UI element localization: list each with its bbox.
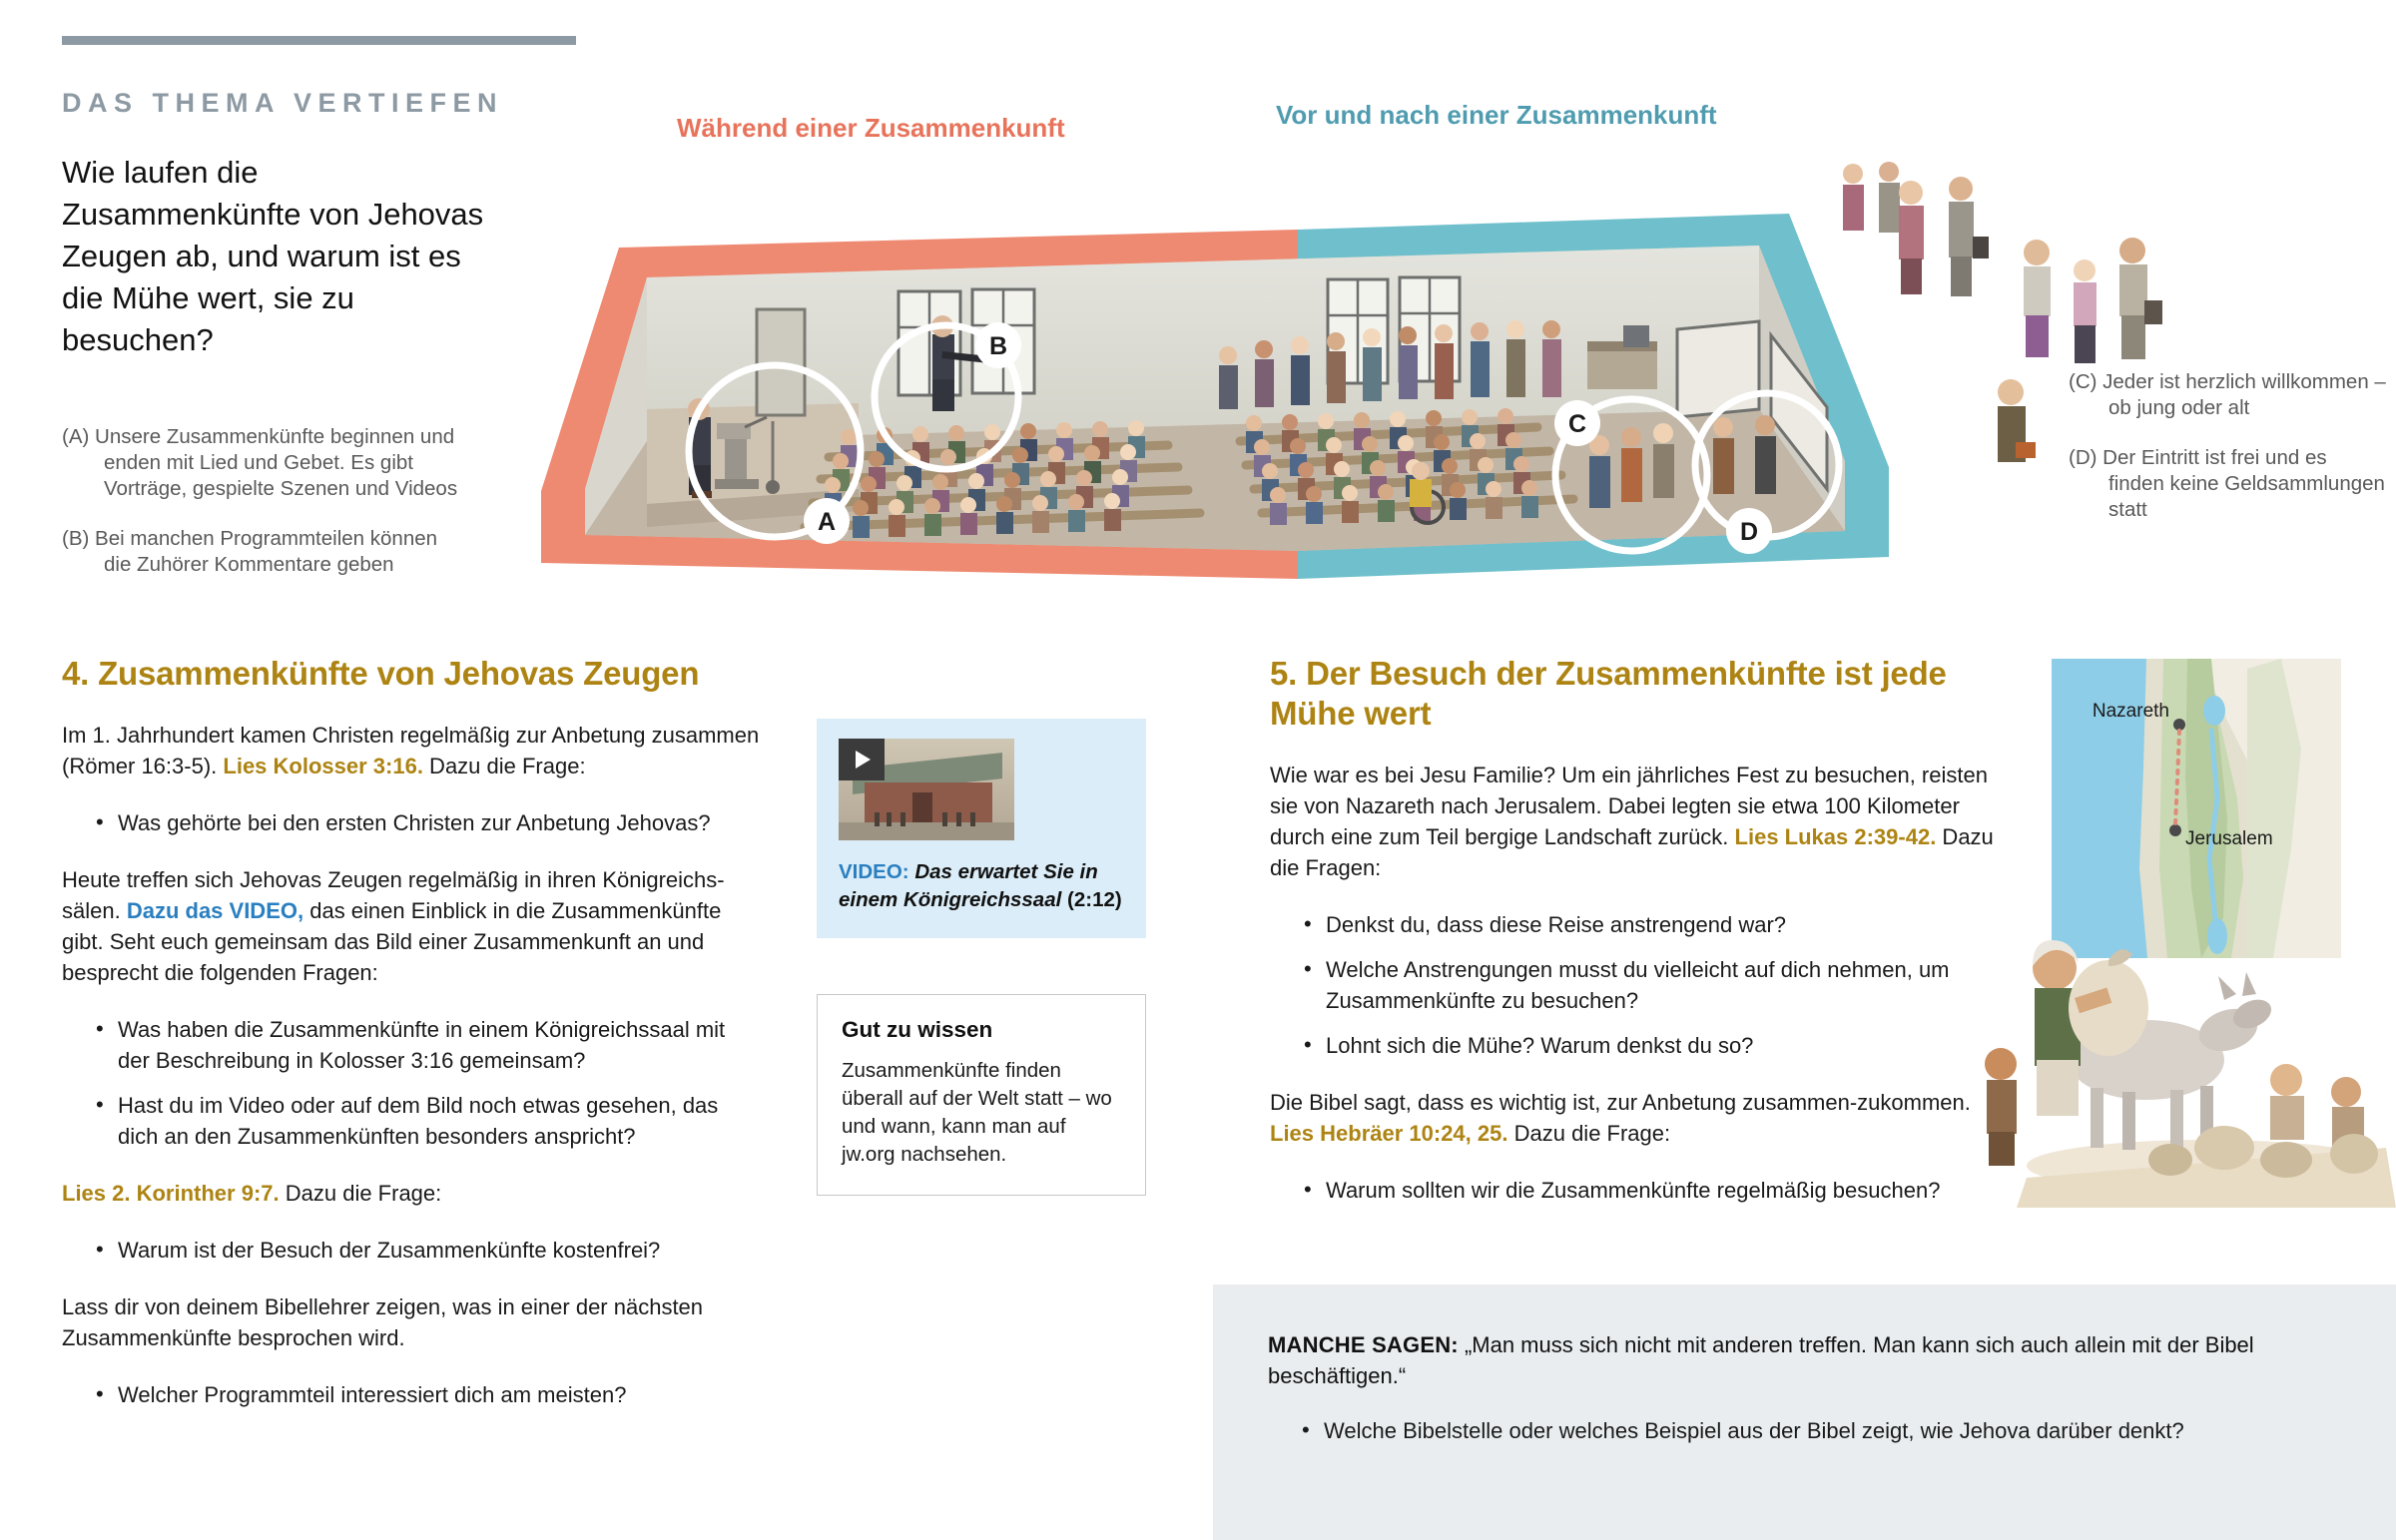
section-4-questions-2: Was haben die Zusammenkünfte in einem Kö… [62,1014,761,1152]
map-label-jerusalem: Jerusalem [2185,828,2273,849]
thumbnail-person [956,812,961,826]
good-to-know-text: Zusammenkünfte finden überall auf der We… [842,1057,1121,1169]
caption-a: (A) Unsere Zusammenkünfte beginnen und e… [62,424,461,502]
video-caption: VIDEO: Das erwartet Sie in einem Königre… [839,858,1124,914]
page-kicker: DAS THEMA VERTIEFEN [62,88,503,119]
list-item: Welche Bibelstelle oder welches Beispiel… [1302,1415,2341,1446]
scripture-link-hebraeer[interactable]: Lies Hebräer 10:24, 25. [1270,1121,1507,1146]
list-item: Was gehörte bei den ersten Christen zur … [96,807,761,838]
label-before-after-meeting: Vor und nach einer Zusammenkunft [1276,100,1717,131]
objection-questions: Welche Bibelstelle oder welches Beispiel… [1268,1415,2341,1446]
s4-p3b: Dazu die Frage: [280,1181,442,1206]
play-icon[interactable] [839,739,885,780]
good-to-know-heading: Gut zu wissen [842,1017,1121,1043]
section-4-paragraph-3: Lies 2. Korinther 9:7. Dazu die Frage: [62,1178,761,1209]
thumbnail-person [900,812,905,826]
thumbnail-door [912,792,932,824]
callout-a-label: A [818,508,836,536]
section-5-questions-2: Warum sollten wir die Zusammenkünfte reg… [1270,1175,2009,1206]
list-item: Welcher Programmteil interessiert dich a… [96,1379,761,1410]
list-item: Was haben die Zusammenkünfte in einem Kö… [96,1014,761,1076]
thumbnail-ground [839,822,1014,840]
section-4-paragraph-4: Lass dir von deinem Bibellehrer zeigen, … [62,1291,761,1353]
scripture-link-lukas[interactable]: Lies Lukas 2:39-42. [1735,824,1937,849]
caption-d: (D) Der Eintritt ist frei und es finden … [2069,445,2388,523]
list-item: Lohnt sich die Mühe? Warum denkst du so? [1304,1030,2009,1061]
section-4-questions-1: Was gehörte bei den ersten Christen zur … [62,807,761,838]
thumbnail-person [875,812,880,826]
section-5-paragraph-2: Die Bibel sagt, dass es wichtig ist, zur… [1270,1087,2009,1149]
list-item: Welche Anstrengungen musst du vielleicht… [1304,954,2009,1016]
map-label-nazareth: Nazareth [2093,701,2169,722]
section-4-paragraph-2: Heute treffen sich Jehovas Zeugen regelm… [62,864,761,988]
objection-quote: MANCHE SAGEN: „Man muss sich nicht mit a… [1268,1329,2341,1391]
caption-c: (C) Jeder ist herzlich willkommen – ob j… [2069,369,2388,421]
travelers-illustration [1957,848,2396,1208]
section-4-heading: 4. Zusammenkünfte von Jehovas Zeugen [62,654,761,694]
section-5: 5. Der Besuch der Zusammenkünfte ist jed… [1270,654,2009,1232]
section-5-paragraph-1: Wie war es bei Jesu Familie? Um ein jähr… [1270,760,2009,883]
illustration-captions-left: (A) Unsere Zusammenkünfte beginnen und e… [62,424,461,602]
scripture-link-kolosser[interactable]: Lies Kolosser 3:16. [223,754,423,778]
video-duration: (2:12) [1067,888,1122,911]
thumbnail-person [887,812,892,826]
good-to-know-box: Gut zu wissen Zusammenkünfte finden über… [817,994,1146,1196]
section-5-heading: 5. Der Besuch der Zusammenkünfte ist jed… [1270,654,2009,734]
video-link-inline[interactable]: Dazu das VIDEO, [127,898,303,923]
map-point-jerusalem [2169,824,2181,836]
callout-d-label: D [1740,518,1758,546]
s5-p2b: Dazu die Frage: [1507,1121,1670,1146]
caption-b: (B) Bei manchen Programmteilen können di… [62,526,461,578]
section-4: 4. Zusammenkünfte von Jehovas Zeugen Im … [62,654,761,1436]
callout-b-label: B [989,332,1007,360]
thumbnail-person [970,812,975,826]
video-thumbnail[interactable] [839,739,1014,840]
s5-p2a: Die Bibel sagt, dass es wichtig ist, zur… [1270,1090,1971,1115]
list-item: Denkst du, dass diese Reise anstrengend … [1304,909,2009,940]
video-label: VIDEO: [839,860,909,883]
label-during-meeting: Während einer Zusammenkunft [677,113,1065,144]
thumbnail-person [942,812,947,826]
section-4-questions-3: Warum ist der Besuch der Zusammenkünfte … [62,1235,761,1266]
list-item: Warum ist der Besuch der Zusammenkünfte … [96,1235,761,1266]
section-4-questions-4: Welcher Programmteil interessiert dich a… [62,1379,761,1410]
section-5-questions-1: Denkst du, dass diese Reise anstrengend … [1270,909,2009,1061]
kingdom-hall-illustration: A B C D [529,160,1927,609]
section-4-paragraph-1: Im 1. Jahrhundert kamen Christen regelmä… [62,720,761,781]
s4-p1b: Dazu die Frage: [423,754,586,778]
list-item: Hast du im Video oder auf dem Bild noch … [96,1090,761,1152]
illustration-captions-right: (C) Jeder ist herzlich willkommen – ob j… [2069,369,2388,547]
objection-label: MANCHE SAGEN: [1268,1332,1459,1357]
video-card[interactable]: VIDEO: Das erwartet Sie in einem Königre… [817,719,1146,938]
list-item: Warum sollten wir die Zusammenkünfte reg… [1304,1175,2009,1206]
callout-c-label: C [1568,410,1586,438]
scripture-link-korinther[interactable]: Lies 2. Korinther 9:7. [62,1181,280,1206]
lead-question: Wie laufen die Zusammenkünfte von Jehova… [62,152,491,361]
objection-box: MANCHE SAGEN: „Man muss sich nicht mit a… [1213,1284,2396,1540]
header-rule [62,36,576,45]
media-column: VIDEO: Das erwartet Sie in einem Königre… [817,719,1146,1196]
